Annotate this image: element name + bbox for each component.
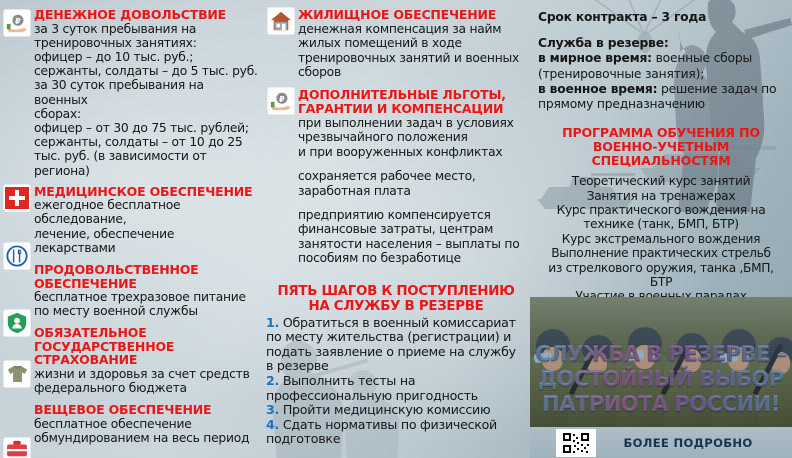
benefit-line: лечение, обеспечение лекарствами: [34, 227, 258, 255]
benefit-block-food: ПРОДОВОЛЬСТВЕННОЕ ОБЕСПЕЧЕНИЕ бесплатное…: [0, 263, 262, 318]
poster-root: ₽ ДЕНЕЖНОЕ ДОВОЛЬСТВИЕ за 3 суток пребыв…: [0, 0, 792, 458]
benefit-line: офицер – от 30 до 75 тыс. рублей;: [34, 121, 258, 135]
slogan-line-3: ПАТРИОТА РОССИИ!: [530, 392, 792, 417]
svg-text:₽: ₽: [15, 16, 21, 26]
benefit-line: сборов: [298, 65, 524, 79]
wartime-line2: прямому предназначению: [538, 97, 784, 112]
benefit-line: сержанты, солдаты – до 5 тыс. руб.: [34, 64, 258, 78]
peacetime-value: военные сборы: [652, 51, 752, 65]
program-item: Занятия на тренажерах: [536, 189, 786, 203]
benefit-block-extra-benefits: ₽ ДОПОЛНИТЕЛЬНЫЕ ЛЬГОТЫ, ГАРАНТИИ И КОМП…: [262, 88, 530, 159]
benefit-line: федерального бюджета: [34, 381, 258, 395]
slogan-overlay: СЛУЖБА В РЕЗЕРВЕ – ДОСТОЙНЫЙ ВЫБОР ПАТРИ…: [530, 342, 792, 417]
step-text: Сдать нормативы по физической подготовке: [266, 417, 497, 447]
slogan-line-2: ДОСТОЙНЫЙ ВЫБОР: [530, 367, 792, 392]
step-number: 1.: [266, 315, 279, 330]
ruble-hand-icon: ₽: [268, 88, 294, 114]
svg-text:₽: ₽: [279, 94, 285, 104]
step-number: 2.: [266, 373, 279, 388]
left-column: ₽ ДЕНЕЖНОЕ ДОВОЛЬСТВИЕ за 3 суток пребыв…: [0, 0, 262, 445]
program-item: Теоретический курс занятий: [536, 174, 786, 188]
benefit-block-uniform: ВЕЩЕВОЕ ОБЕСПЕЧЕНИЕ бесплатное обеспечен…: [0, 403, 262, 445]
contract-term: Срок контракта – 3 года: [538, 10, 784, 25]
red-cross-icon: [4, 185, 30, 211]
right-column: Срок контракта – 3 года Служба в резерве…: [530, 0, 792, 458]
benefit-text-money: ДЕНЕЖНОЕ ДОВОЛЬСТВИЕ за 3 суток пребыван…: [0, 8, 262, 178]
benefit-line: жизни и здоровья за счет средств: [34, 367, 258, 381]
qr-code-icon[interactable]: [556, 429, 596, 457]
guarantee-line: сохраняется рабочее место,: [298, 169, 524, 183]
benefit-heading: ДЕНЕЖНОЕ ДОВОЛЬСТВИЕ: [34, 8, 258, 22]
contract-info: Срок контракта – 3 года Служба в резерве…: [530, 0, 792, 112]
benefit-text-food: ПРОДОВОЛЬСТВЕННОЕ ОБЕСПЕЧЕНИЕ бесплатное…: [0, 263, 262, 318]
benefit-line: за 30 суток пребывания на военных: [34, 78, 258, 106]
benefit-line: региона): [34, 164, 258, 178]
step-text: Обратиться в военный комиссариат по мест…: [266, 315, 516, 374]
benefit-heading: ПРОДОВОЛЬСТВЕННОЕ ОБЕСПЕЧЕНИЕ: [34, 263, 219, 290]
benefit-heading: ВЕЩЕВОЕ ОБЕСПЕЧЕНИЕ: [34, 403, 258, 417]
benefit-line: офицер – до 10 тыс. руб.;: [34, 50, 258, 64]
benefit-line: денежная компенсация за найм: [298, 22, 524, 36]
benefit-line: за 3 суток пребывания на: [34, 22, 258, 36]
benefit-block-medical: МЕДИЦИНСКОЕ ОБЕСПЕЧЕНИЕ ежегодное беспла…: [0, 185, 262, 255]
service-title-text: Служба в резерве:: [538, 36, 669, 50]
wartime-value: решение задач по: [657, 82, 776, 96]
step-item-3: 3. Пройти медицинскую комиссию: [266, 403, 526, 418]
benefit-line: сборах:: [34, 107, 258, 121]
benefit-line: обмундированием на весь период: [34, 431, 258, 445]
wartime-label: в военное время:: [538, 82, 657, 96]
program-title-line2: ВОЕННО-УЧЕТНЫМ: [536, 140, 786, 154]
steps-title-line2: НА СЛУЖБУ В РЕЗЕРВЕ: [266, 299, 526, 314]
contract-term-text: Срок контракта – 3 года: [538, 10, 706, 24]
benefit-heading: ОБЯЗАТЕЛЬНОЕ ГОСУДАРСТВЕННОЕ СТРАХОВАНИЕ: [34, 326, 209, 367]
five-steps-section: ПЯТЬ ШАГОВ К ПОСТУПЛЕНИЮ НА СЛУЖБУ В РЕЗ…: [262, 284, 530, 447]
benefit-line: жилых помещений в ходе: [298, 36, 524, 50]
workplace-guarantee-paragraph: сохраняется рабочее место, заработная пл…: [262, 169, 530, 198]
step-text: Выполнить тесты на профессиональную приг…: [266, 373, 478, 403]
benefit-text-insurance: ОБЯЗАТЕЛЬНОЕ ГОСУДАРСТВЕННОЕ СТРАХОВАНИЕ…: [0, 326, 262, 395]
step-item-4: 4. Сдать нормативы по физической подгото…: [266, 418, 526, 447]
peacetime-line: в мирное время: военные сборы: [538, 51, 784, 66]
benefit-line: тыс. руб. (в зависимости от: [34, 149, 258, 163]
program-item: Курс практического вождения на: [536, 203, 786, 217]
program-item: Выполнение практических стрельб: [536, 246, 786, 260]
ruble-hand-icon: ₽: [4, 10, 30, 36]
benefit-line: бесплатное обеспечение: [34, 417, 258, 431]
benefit-text-housing: ЖИЛИЩНОЕ ОБЕСПЕЧЕНИЕ денежная компенсаци…: [262, 8, 530, 79]
enterprise-compensation-paragraph: предприятию компенсируется финансовые за…: [262, 208, 530, 266]
benefit-line: тренировочных занятиях:: [34, 36, 258, 50]
benefit-text-uniform: ВЕЩЕВОЕ ОБЕСПЕЧЕНИЕ бесплатное обеспечен…: [0, 403, 262, 445]
slogan-line-1: СЛУЖБА В РЕЗЕРВЕ –: [530, 342, 792, 367]
peacetime-line2: (тренировочные занятия);: [538, 67, 784, 82]
compensation-line: пособиям по безработице: [298, 251, 524, 265]
footer-bar: БОЛЕЕ ПОДРОБНО: [530, 427, 792, 458]
cutlery-plate-icon: [4, 243, 30, 269]
program-item: БТР: [536, 275, 786, 289]
benefit-line: при выполнении задач в условиях: [298, 116, 524, 130]
benefit-line: ежегодное бесплатное: [34, 198, 258, 212]
shield-person-icon: [4, 310, 30, 336]
guarantee-line: заработная плата: [298, 184, 524, 198]
compensation-line: финансовые затраты, центрам: [298, 222, 524, 236]
spacer: [538, 25, 784, 36]
benefit-line: бесплатное трехразовое питание: [34, 290, 258, 304]
benefit-text-extra: ДОПОЛНИТЕЛЬНЫЕ ЛЬГОТЫ, ГАРАНТИИ И КОМПЕН…: [262, 88, 530, 159]
benefit-heading: МЕДИЦИНСКОЕ ОБЕСПЕЧЕНИЕ: [34, 185, 258, 199]
more-info-label: БОЛЕЕ ПОДРОБНО: [596, 436, 792, 450]
step-item-1: 1. Обратиться в военный комиссариат по м…: [266, 316, 526, 374]
step-number: 3.: [266, 402, 279, 417]
suitcase-icon: [4, 438, 30, 458]
program-item: Курс экстремального вождения: [536, 232, 786, 246]
benefit-text-medical: МЕДИЦИНСКОЕ ОБЕСПЕЧЕНИЕ ежегодное беспла…: [0, 185, 262, 255]
benefit-heading: ЖИЛИЩНОЕ ОБЕСПЕЧЕНИЕ: [298, 8, 524, 22]
benefit-block-housing: ЖИЛИЩНОЕ ОБЕСПЕЧЕНИЕ денежная компенсаци…: [262, 8, 530, 79]
compensation-line: предприятию компенсируется: [298, 208, 524, 222]
training-program-section: ПРОГРАММА ОБУЧЕНИЯ ПО ВОЕННО-УЧЕТНЫМ СПЕ…: [530, 126, 792, 304]
step-text: Пройти медицинскую комиссию: [283, 402, 490, 417]
benefit-line: и при вооруженных конфликтах: [298, 145, 524, 159]
benefit-heading: ДОПОЛНИТЕЛЬНЫЕ ЛЬГОТЫ, ГАРАНТИИ И КОМПЕН…: [298, 88, 524, 116]
benefit-line: обследование,: [34, 212, 258, 226]
benefit-line: тренировочных занятий и военных: [298, 51, 524, 65]
program-item: технике (танк, БМП, БТР): [536, 217, 786, 231]
benefit-block-insurance: ОБЯЗАТЕЛЬНОЕ ГОСУДАРСТВЕННОЕ СТРАХОВАНИЕ…: [0, 326, 262, 395]
benefit-line: по месту военной службы: [34, 304, 258, 318]
middle-column: ЖИЛИЩНОЕ ОБЕСПЕЧЕНИЕ денежная компенсаци…: [262, 0, 530, 447]
step-number: 4.: [266, 417, 279, 432]
step-item-2: 2. Выполнить тесты на профессиональную п…: [266, 374, 526, 403]
service-title: Служба в резерве:: [538, 36, 784, 51]
benefit-block-money: ₽ ДЕНЕЖНОЕ ДОВОЛЬСТВИЕ за 3 суток пребыв…: [0, 8, 262, 178]
peacetime-label: в мирное время:: [538, 51, 652, 65]
benefit-line: чрезвычайного положения: [298, 130, 524, 144]
program-item: из стрелкового оружия, танка ,БМП,: [536, 261, 786, 275]
compensation-line: занятости населения – выплаты по: [298, 237, 524, 251]
house-icon: [268, 8, 294, 34]
benefit-line: сержанты, солдаты – от 10 до 25: [34, 135, 258, 149]
program-title-line3: СПЕЦИАЛЬНОСТЯМ: [536, 154, 786, 168]
wartime-line: в военное время: решение задач по: [538, 82, 784, 97]
program-title-line1: ПРОГРАММА ОБУЧЕНИЯ ПО: [536, 126, 786, 140]
sweater-icon: [4, 361, 30, 387]
steps-title-line1: ПЯТЬ ШАГОВ К ПОСТУПЛЕНИЮ: [266, 284, 526, 299]
